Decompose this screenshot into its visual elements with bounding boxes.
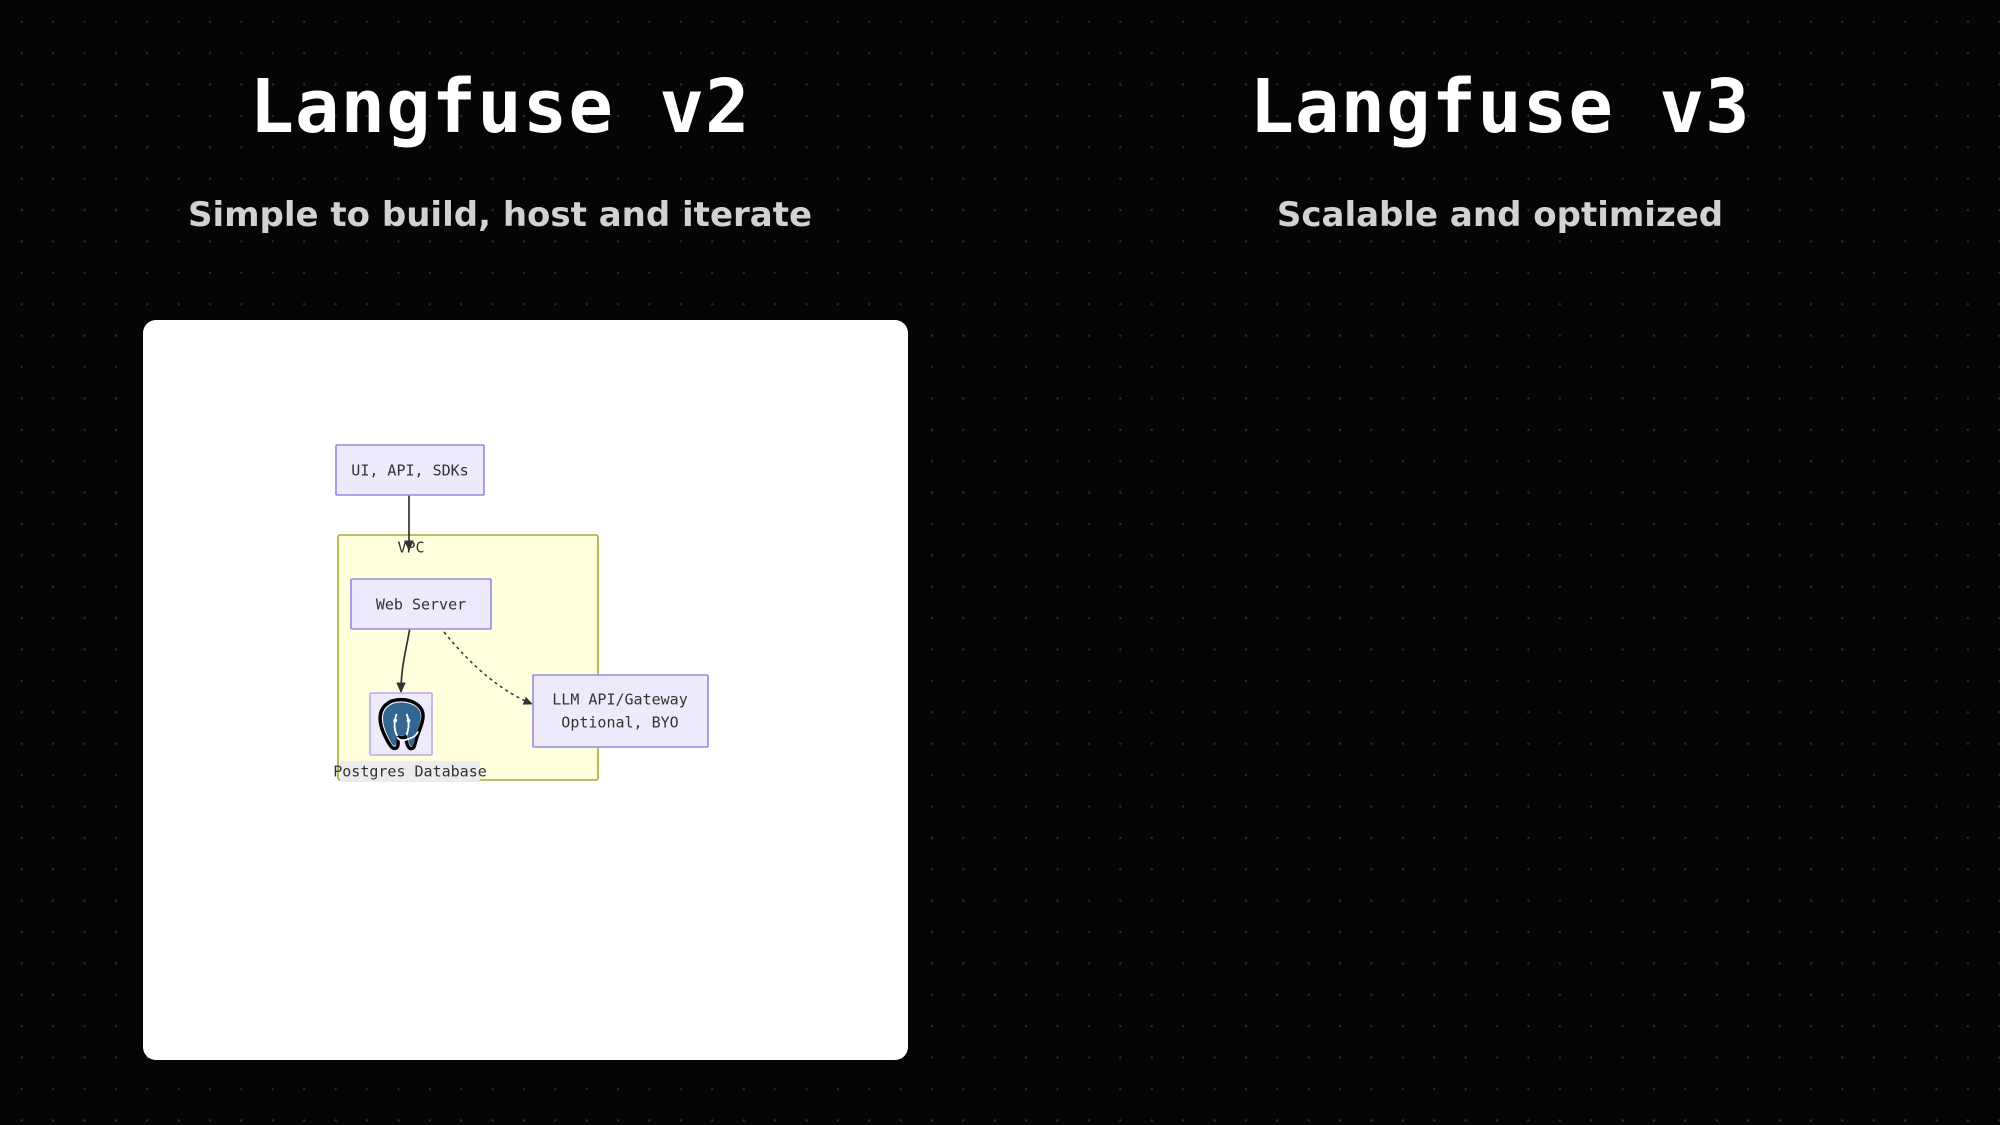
node-label-line1: LLM API/Gateway: [552, 691, 687, 709]
diagram-card-v2: VPC UI, API, SDKs Web Server Postgres Da: [143, 320, 908, 1060]
vpc-label-v2: VPC: [397, 539, 424, 557]
page-title-v3: Langfuse v3: [1000, 70, 2000, 144]
panel-langfuse-v2: Langfuse v2 Simple to build, host and it…: [0, 0, 1000, 1125]
node-web-server-v2[interactable]: Web Server: [351, 579, 491, 629]
node-label: UI, API, SDKs: [351, 462, 468, 480]
node-llm-api-gateway-v2[interactable]: LLM API/Gateway Optional, BYO: [533, 675, 708, 747]
panel-langfuse-v3: Langfuse v3 Scalable and optimized: [1000, 0, 2000, 1125]
page-subtitle-v2: Simple to build, host and iterate: [0, 195, 1000, 235]
node-label: Web Server: [376, 596, 466, 614]
page-root: Langfuse v2 Simple to build, host and it…: [0, 0, 2000, 1125]
page-title-v2: Langfuse v2: [0, 70, 1000, 144]
node-caption: Postgres Database: [333, 763, 487, 781]
node-label-line2: Optional, BYO: [561, 714, 678, 732]
node-ui-api-sdks-v2[interactable]: UI, API, SDKs: [336, 445, 484, 495]
page-subtitle-v3: Scalable and optimized: [1000, 195, 2000, 235]
